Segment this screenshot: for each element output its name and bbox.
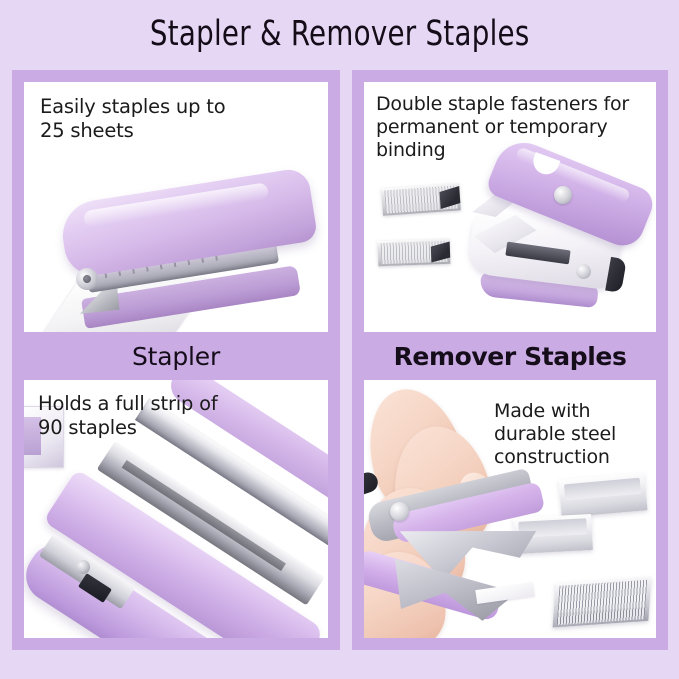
- staple-block-shape: [381, 183, 461, 215]
- section-label-remover-staples: Remover Staples: [364, 334, 656, 378]
- stapler-screw-shape: [76, 560, 90, 574]
- remover-pivot-shape: [390, 502, 409, 521]
- page-title: Stapler & Remover Staples: [150, 14, 530, 54]
- staple-block-shape: [378, 239, 451, 266]
- section-label-remover-staples-text: Remover Staples: [394, 342, 627, 371]
- remover-rivet-shape: [554, 186, 572, 204]
- staple-strip-shape: [553, 576, 652, 627]
- panel-caption-stapler-sheets: Easily staples up to 25 sheets: [40, 95, 320, 143]
- panel-caption-durable-steel: Made with durable steel construction: [494, 400, 656, 470]
- panel-double-staple-fasteners[interactable]: Double staple fasteners for permanent or…: [364, 82, 656, 332]
- panel-stapler-sheets[interactable]: Easily staples up to 25 sheets: [24, 82, 328, 332]
- panel-caption-full-strip-capacity: Holds a full strip of 90 staples: [38, 392, 318, 440]
- section-label-stapler: Stapler: [24, 334, 328, 378]
- panel-durable-steel[interactable]: Made with durable steel construction: [364, 380, 656, 638]
- section-label-stapler-text: Stapler: [132, 342, 220, 371]
- product-feature-infographic: Stapler & Remover Staples Easily staples…: [0, 0, 679, 679]
- staple-strip-shape: [559, 472, 648, 517]
- infographic-header: Stapler & Remover Staples: [0, 0, 679, 68]
- panel-caption-double-staple-fasteners: Double staple fasteners for permanent or…: [376, 93, 656, 163]
- remover-rivet-shape: [576, 264, 591, 279]
- panel-full-strip-capacity[interactable]: Holds a full strip of 90 staples: [24, 380, 328, 638]
